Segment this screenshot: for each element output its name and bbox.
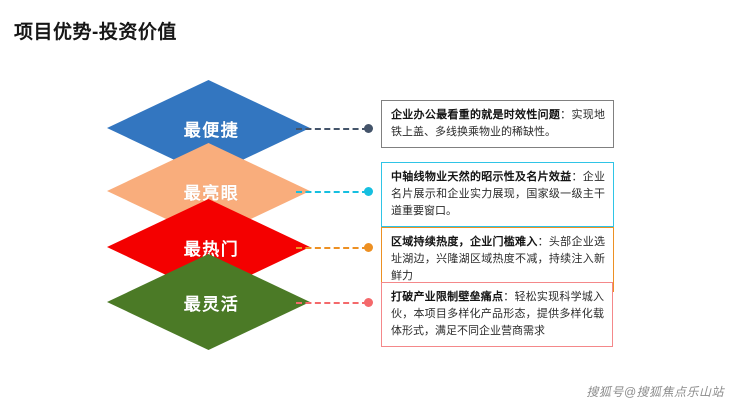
callout-separator-3: ： — [538, 236, 549, 248]
callout-lead-1: 企业办公最看重的就是时效性问题 — [391, 109, 560, 121]
connector-dot-4 — [364, 298, 373, 307]
connector-dot-2 — [364, 187, 373, 196]
callout-separator-2: ： — [571, 171, 582, 183]
callout-lead-4: 打破产业限制壁垒痛点 — [391, 291, 503, 303]
diamond-row-4[interactable]: 最灵活 — [107, 254, 310, 350]
watermark-text: 搜狐号@搜狐焦点乐山站 — [586, 383, 724, 400]
callout-separator-1: ： — [560, 109, 571, 121]
connector-line-1 — [296, 128, 368, 130]
callout-box-2[interactable]: 中轴线物业天然的昭示性及名片效益：企业名片展示和企业实力展现，国家级一级主干道重… — [381, 162, 614, 227]
diamond-stack: 最便捷 最亮眼 最热门 最灵活 — [107, 80, 317, 350]
callout-separator-4: ： — [503, 291, 514, 303]
connector-line-3 — [296, 247, 368, 249]
page-title: 项目优势-投资价值 — [14, 17, 177, 44]
connector-dot-3 — [364, 243, 373, 252]
connector-line-2 — [296, 191, 368, 193]
connector-line-4 — [296, 302, 368, 304]
callout-box-1[interactable]: 企业办公最看重的就是时效性问题：实现地铁上盖、多线换乘物业的稀缺性。 — [381, 100, 614, 148]
slide-canvas: 项目优势-投资价值 最便捷 最亮眼 最热门 最灵活 企业办公最看重的就是时效性问… — [0, 0, 740, 408]
connector-dot-1 — [364, 124, 373, 133]
diamond-shape-most-flexible[interactable] — [107, 254, 310, 350]
callout-box-4[interactable]: 打破产业限制壁垒痛点：轻松实现科学城入伙，本项目多样化产品形态，提供多样化载体形… — [381, 282, 613, 347]
callout-lead-3: 区域持续热度，企业门槛难入 — [391, 236, 538, 248]
callout-lead-2: 中轴线物业天然的昭示性及名片效益 — [391, 171, 571, 183]
